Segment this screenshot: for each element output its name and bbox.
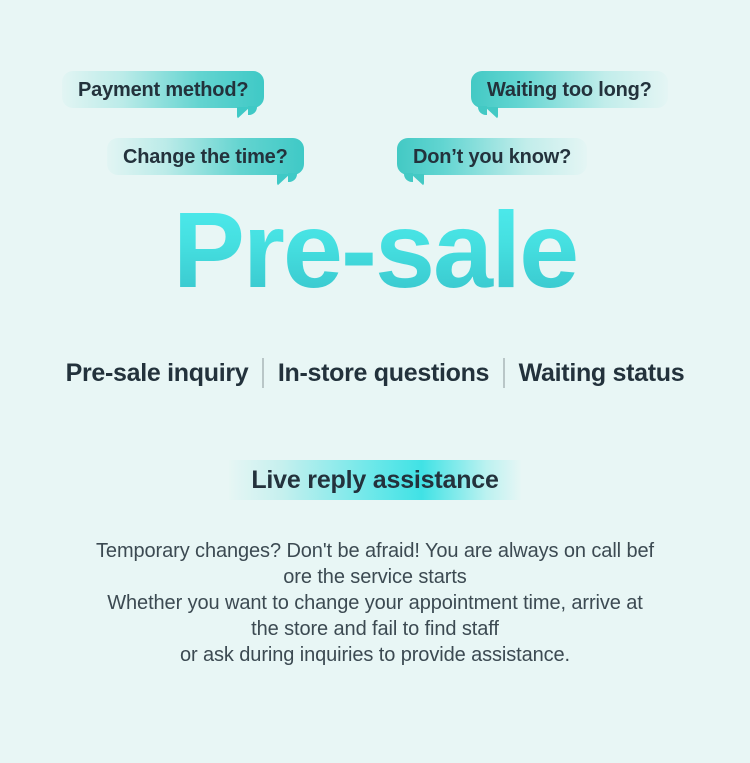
tag-waiting-status: Waiting status [505, 358, 699, 388]
speech-bubble-label: Don’t you know? [413, 147, 571, 167]
speech-bubble-label: Waiting too long? [487, 80, 652, 100]
speech-bubble-label: Change the time? [123, 147, 288, 167]
highlight-band: Live reply assistance [229, 460, 520, 500]
tag-row: Pre-sale inquiry In-store questions Wait… [0, 358, 750, 388]
highlight-section: Live reply assistance [0, 460, 750, 500]
speech-bubble-change-the-time: Change the time? [107, 138, 304, 175]
speech-bubble-tail-hook-icon [248, 106, 257, 115]
tag-pre-sale-inquiry: Pre-sale inquiry [52, 358, 263, 388]
body-copy-line: Temporary changes? Don't be afraid! You … [0, 538, 750, 564]
body-copy: Temporary changes? Don't be afraid! You … [0, 538, 750, 668]
speech-bubble-waiting-too-long: Waiting too long? [471, 71, 668, 108]
promo-banner: Payment method? Change the time? Waiting… [0, 0, 750, 763]
speech-bubble-payment-method: Payment method? [62, 71, 264, 108]
tag-in-store-questions: In-store questions [264, 358, 503, 388]
speech-bubble-tail-hook-icon [288, 173, 297, 182]
body-copy-line: the store and fail to find staff [0, 616, 750, 642]
highlight-label: Live reply assistance [251, 468, 498, 493]
speech-bubble-label: Payment method? [78, 80, 248, 100]
speech-bubble-dont-you-know: Don’t you know? [397, 138, 587, 175]
body-copy-line: ore the service starts [0, 564, 750, 590]
body-copy-line: or ask during inquiries to provide assis… [0, 642, 750, 668]
body-copy-line: Whether you want to change your appointm… [0, 590, 750, 616]
page-title: Pre-sale [0, 196, 750, 304]
